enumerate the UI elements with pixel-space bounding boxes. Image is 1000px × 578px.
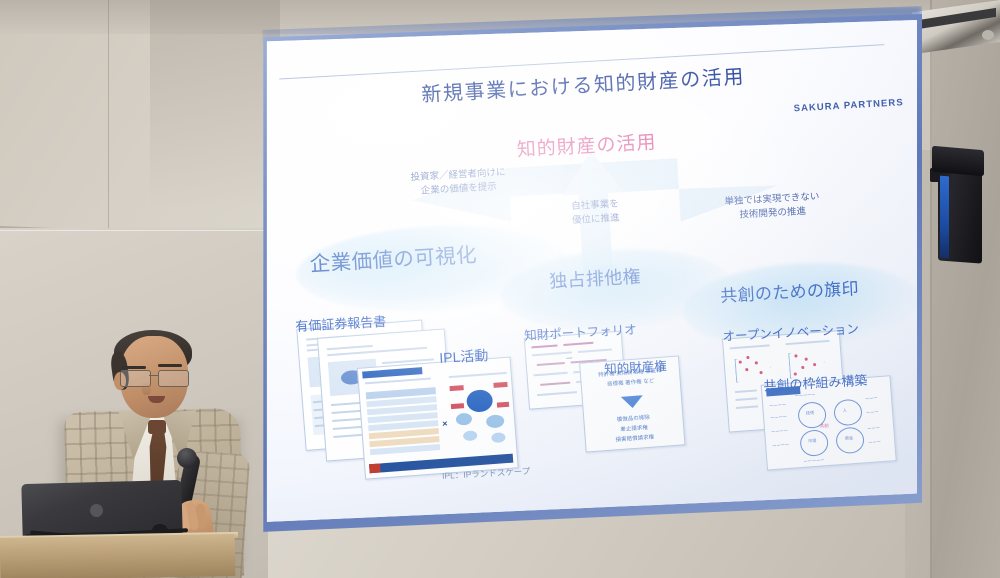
down-arrow-icon: [621, 395, 644, 409]
speaker-blue-stripe: [940, 176, 949, 259]
slide-logo: SAKURA PARTNERS: [793, 97, 904, 114]
ipl-table: [366, 387, 441, 456]
presenter-brow-left: [122, 366, 146, 369]
ceiling-rail-fitting: [982, 30, 994, 40]
wall-seam: [930, 0, 932, 578]
kyoso-circle-2: [833, 398, 863, 426]
ipl-multiply-icon: ×: [442, 418, 448, 428]
wall-seam: [108, 0, 109, 236]
mock-ipl-slide: ×: [357, 357, 519, 480]
lens-right: [158, 370, 189, 387]
kyoso-circle-label-4: 資金: [845, 435, 854, 442]
presenter-brow-right: [158, 364, 182, 367]
label-ipl-katsudo: IPL活動: [439, 345, 489, 368]
projection-screen: 新規事業における知的財産の活用 SAKURA PARTNERS 知的財産の活用 …: [263, 19, 917, 527]
presenter-tie-knot: [148, 420, 166, 434]
ipl-footer-accent: [369, 463, 381, 473]
wall-shading: [150, 0, 280, 210]
kyoso-circle-label-2: 人: [843, 408, 848, 414]
glasses-bridge: [149, 375, 158, 376]
label-chiteki-zaisanken: 知的財産権: [604, 355, 667, 378]
podium: [0, 534, 235, 578]
kyoso-center-label: 共創: [820, 423, 829, 430]
speaker-head: [932, 146, 984, 177]
column-heading-2: 独占排他権: [548, 262, 641, 293]
kyoso-circle-label-3: 市場: [808, 438, 817, 445]
wall-right-edge: [932, 0, 1000, 578]
photo-scene: 新規事業における知的財産の活用 SAKURA PARTNERS 知的財産の活用 …: [0, 0, 1000, 578]
wall-speaker-unit: [930, 146, 986, 264]
ipl-title-band: [362, 367, 422, 378]
eyeglasses: [120, 370, 190, 386]
presenter-nose: [142, 382, 151, 395]
slide-surface: 新規事業における知的財産の活用 SAKURA PARTNERS 知的財産の活用 …: [263, 19, 917, 527]
arrow-note-center: 自社事業を 優位に推進: [545, 196, 646, 229]
kyoso-circle-label-1: 技術: [806, 410, 815, 417]
ipl-map-diagram: [449, 376, 512, 452]
